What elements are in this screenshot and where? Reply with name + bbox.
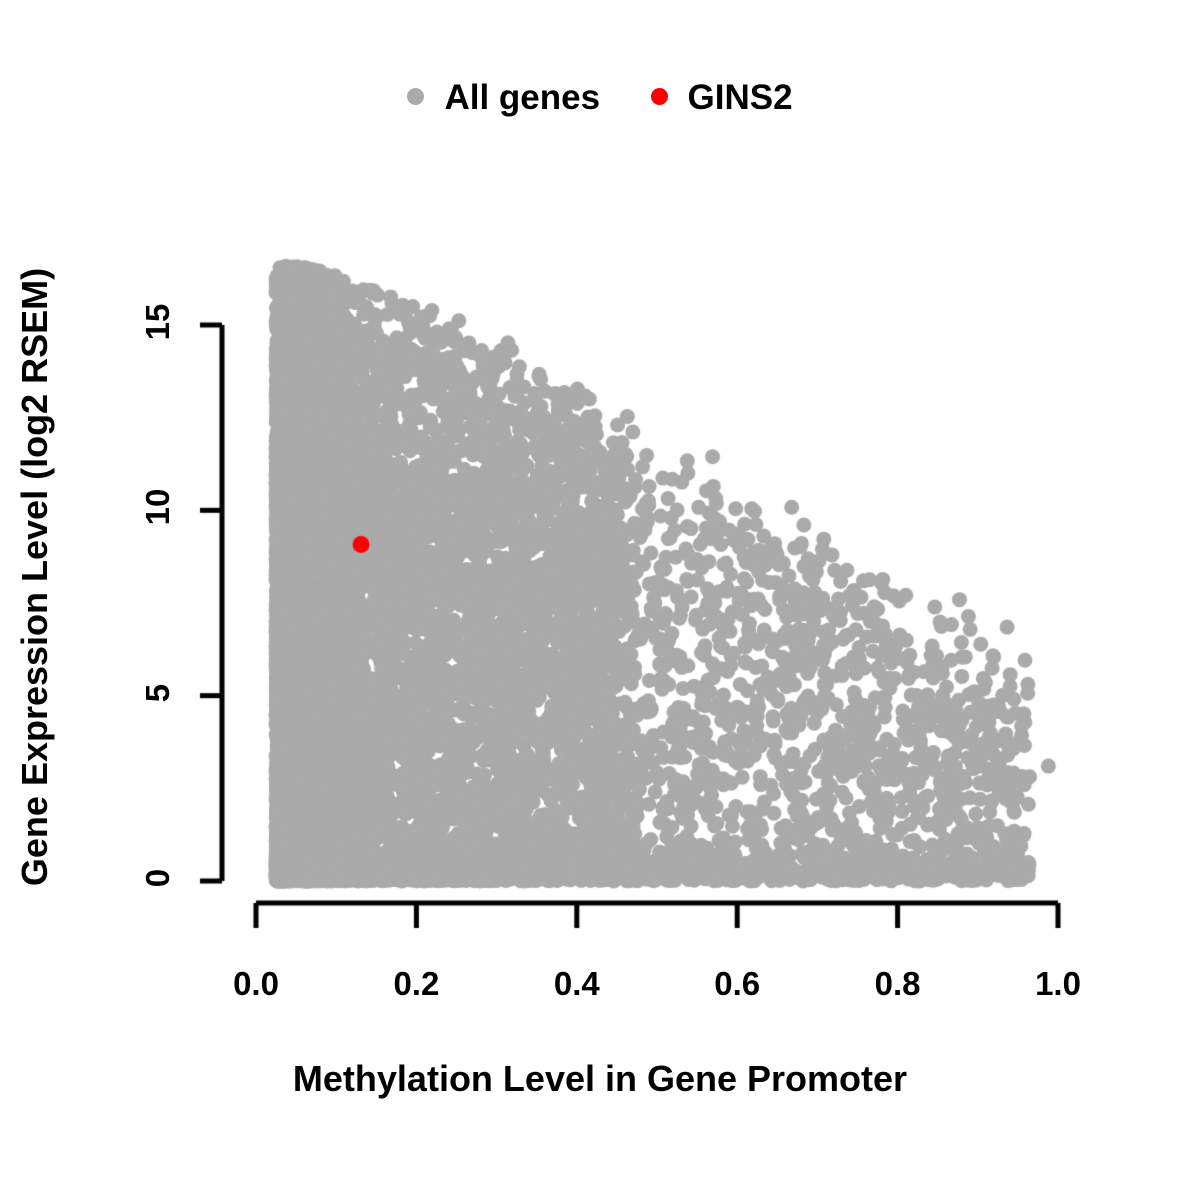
scatter-plot-figure: All genes GINS2 Methylation Level in Gen… xyxy=(0,0,1200,1200)
scatter-plot-canvas xyxy=(0,0,1200,1200)
